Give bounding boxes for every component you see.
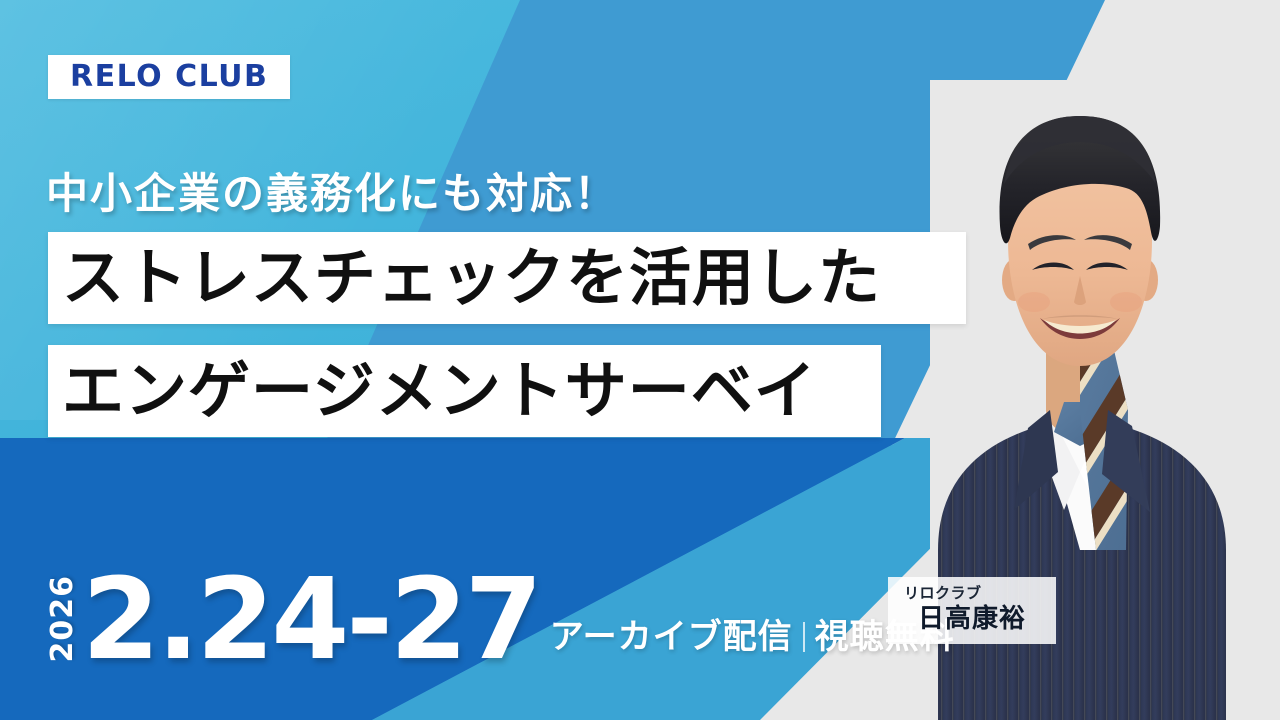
webinar-banner: RELO CLUB 中小企業の義務化にも対応！ ストレスチェックを活用した エン… [0, 0, 1280, 720]
speaker-card: リロクラブ 日高康裕 [888, 577, 1056, 644]
delivery-label: アーカイブ配信 [550, 620, 793, 654]
relo-club-logo: RELO CLUB [48, 55, 290, 99]
cheek-left [1018, 292, 1050, 312]
title-line-2: エンゲージメントサーベイ [48, 360, 817, 422]
eyebrow-headline: 中小企業の義務化にも対応！ [46, 160, 618, 221]
meta-divider [803, 622, 805, 652]
logo-text: RELO CLUB [70, 62, 268, 92]
speaker-name: 日高康裕 [900, 604, 1044, 635]
title-band-1: ストレスチェックを活用した [48, 232, 966, 324]
cheek-right [1110, 292, 1142, 312]
event-year: 2026 [48, 575, 78, 663]
title-line-1: ストレスチェックを活用した [48, 247, 881, 309]
title-band-2: エンゲージメントサーベイ [48, 345, 881, 437]
speaker-organization: リロクラブ [900, 584, 1044, 602]
event-date-range: 2.24-27 [82, 572, 540, 668]
schedule-block: 2026 2.24-27 アーカイブ配信 視聴無料 [48, 572, 955, 668]
